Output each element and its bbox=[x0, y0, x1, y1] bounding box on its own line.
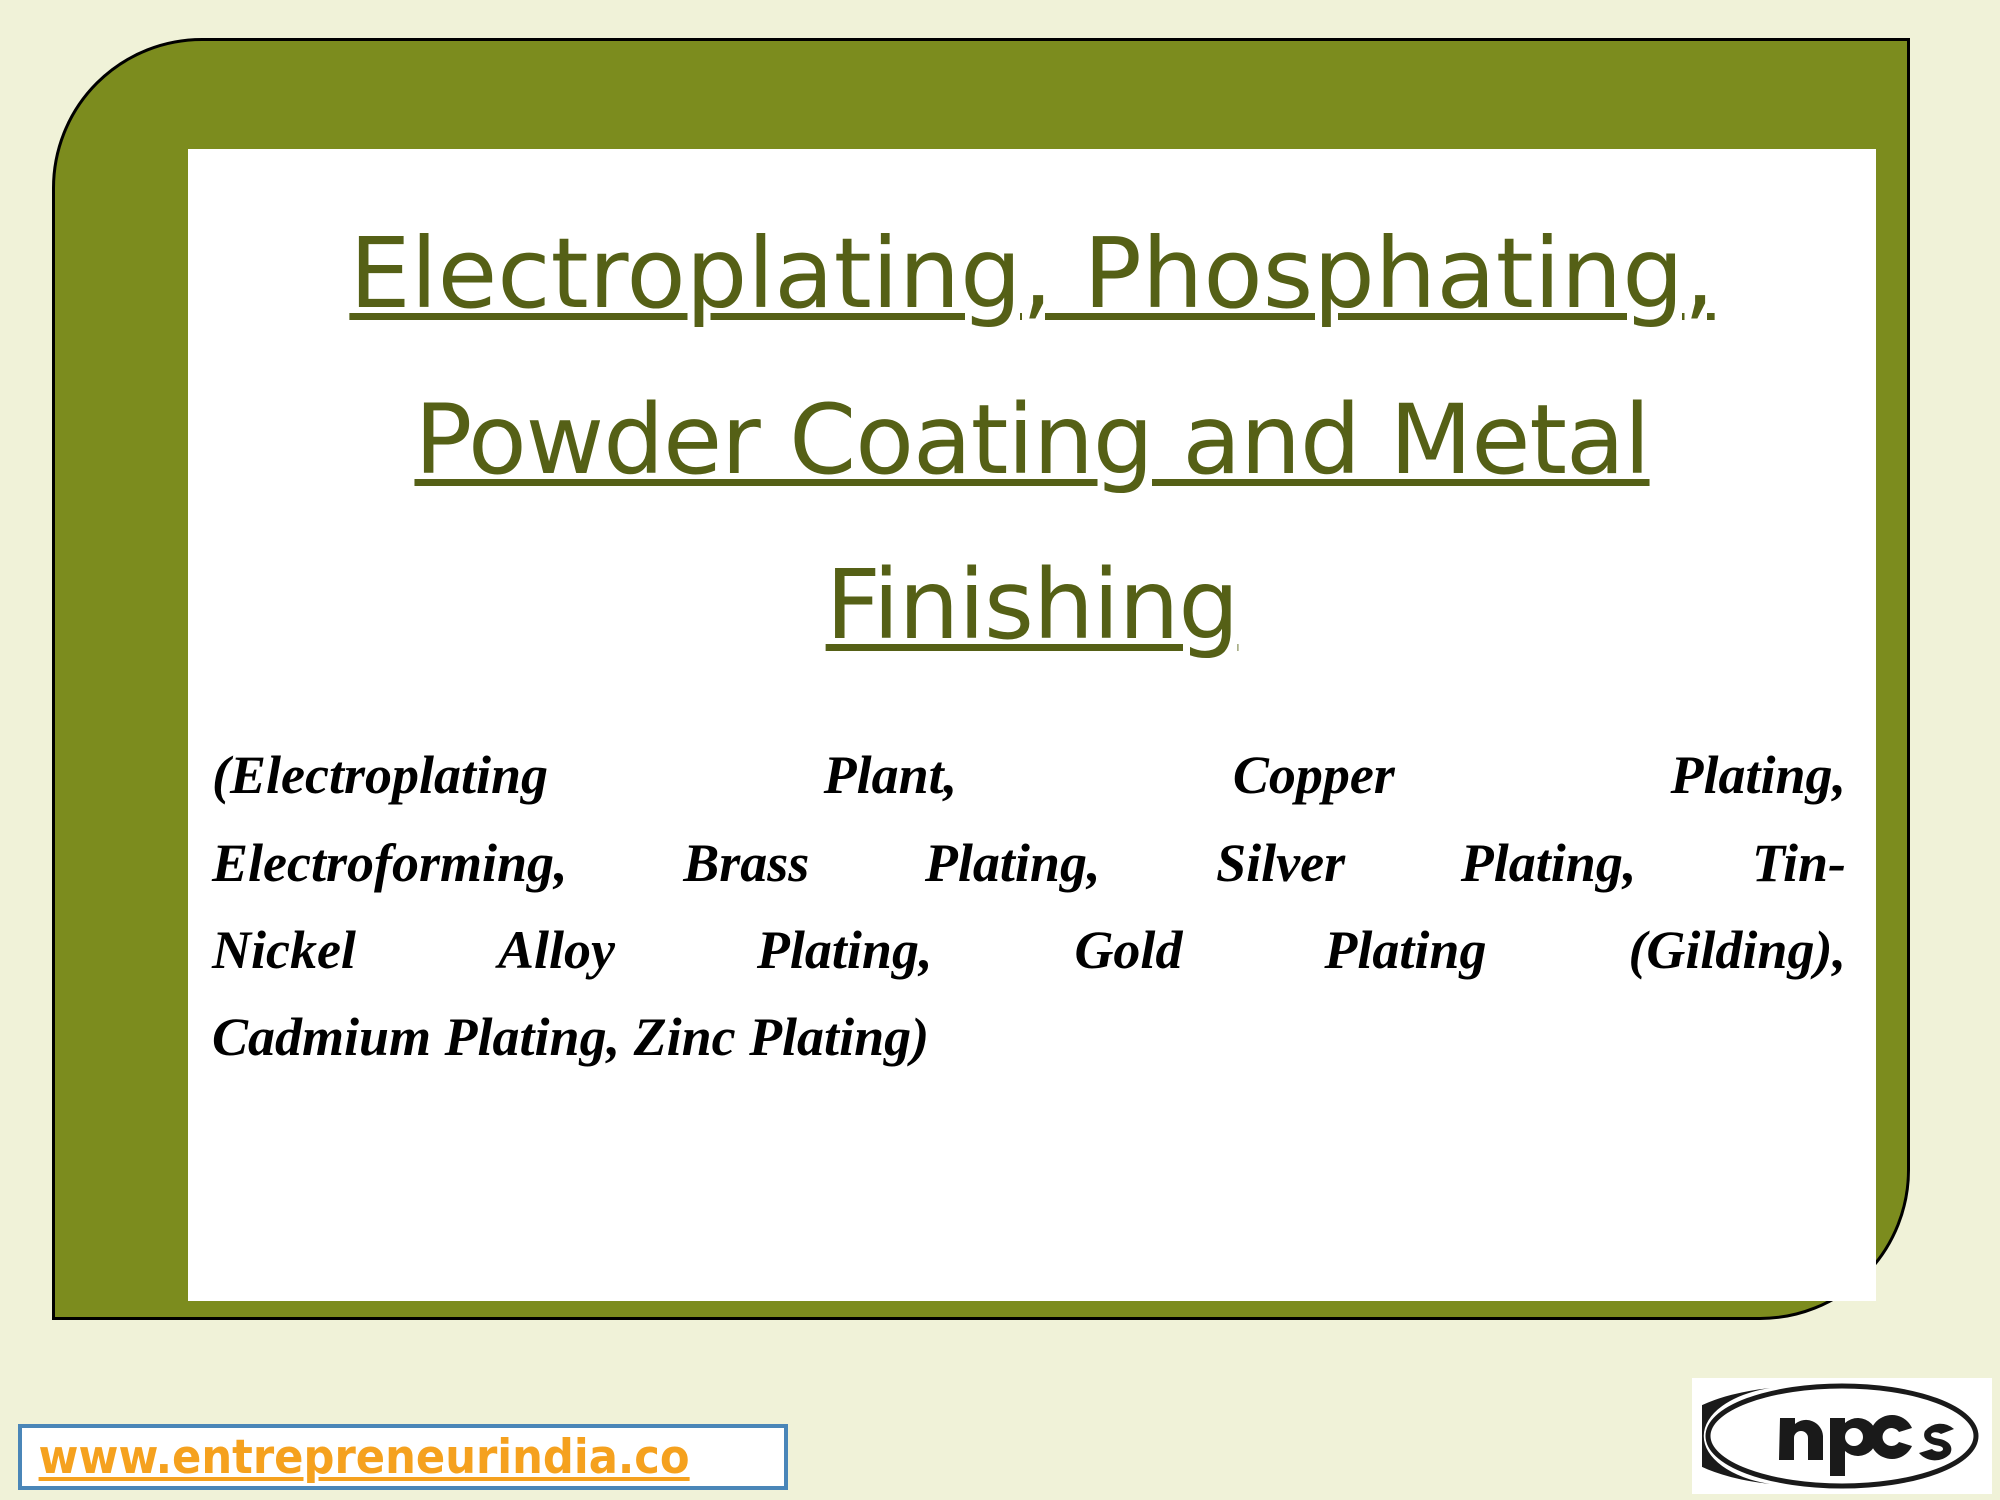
body-word: Gold bbox=[1074, 907, 1182, 994]
title-line-1: Electroplating, Phosphating, bbox=[228, 191, 1836, 358]
body-word: Plating, bbox=[757, 907, 933, 994]
content-panel: Electroplating, Phosphating, Powder Coat… bbox=[188, 149, 1876, 1301]
body-word: Alloy bbox=[498, 907, 615, 994]
body-word: Plating, bbox=[925, 820, 1101, 907]
npcs-logo bbox=[1692, 1378, 1992, 1494]
website-url-box[interactable]: www.entrepreneurindia.co bbox=[18, 1424, 788, 1490]
title-line-3: Finishing bbox=[228, 523, 1836, 688]
npcs-ellipse-logo bbox=[1702, 1382, 1982, 1490]
body-word: Nickel bbox=[212, 907, 356, 994]
body-word: (Electroplating bbox=[212, 732, 548, 819]
body-paragraph: (Electroplating Plant, Copper Plating, E… bbox=[188, 688, 1876, 1082]
slide-frame: Electroplating, Phosphating, Powder Coat… bbox=[52, 38, 1910, 1320]
website-url-text[interactable]: www.entrepreneurindia.co bbox=[22, 1430, 690, 1485]
body-word: Silver bbox=[1216, 820, 1345, 907]
title-line-2-text: Powder Coating and Metal bbox=[414, 384, 1649, 496]
body-word: Plating, bbox=[1670, 732, 1846, 819]
body-line-1: (Electroplating Plant, Copper Plating, bbox=[212, 732, 1846, 819]
body-word: Plating, bbox=[1461, 820, 1637, 907]
body-line-4: Cadmium Plating, Zinc Plating) bbox=[212, 994, 1846, 1081]
body-word: Electroforming, bbox=[212, 820, 568, 907]
body-word: Tin- bbox=[1752, 820, 1846, 907]
title-line-1-text: Electroplating, Phosphating, bbox=[349, 217, 1714, 330]
body-word: Copper bbox=[1233, 732, 1395, 819]
title-line-2: Powder Coating and Metal bbox=[228, 358, 1836, 523]
body-word: Plant, bbox=[824, 732, 958, 819]
body-word: Plating bbox=[1324, 907, 1486, 994]
body-word: Brass bbox=[683, 820, 809, 907]
body-line-3: Nickel Alloy Plating, Gold Plating (Gild… bbox=[212, 907, 1846, 994]
title-line-3-text: Finishing bbox=[826, 549, 1239, 661]
body-word: (Gilding), bbox=[1628, 907, 1846, 994]
body-line-2: Electroforming, Brass Plating, Silver Pl… bbox=[212, 820, 1846, 907]
page-title: Electroplating, Phosphating, Powder Coat… bbox=[188, 149, 1876, 688]
